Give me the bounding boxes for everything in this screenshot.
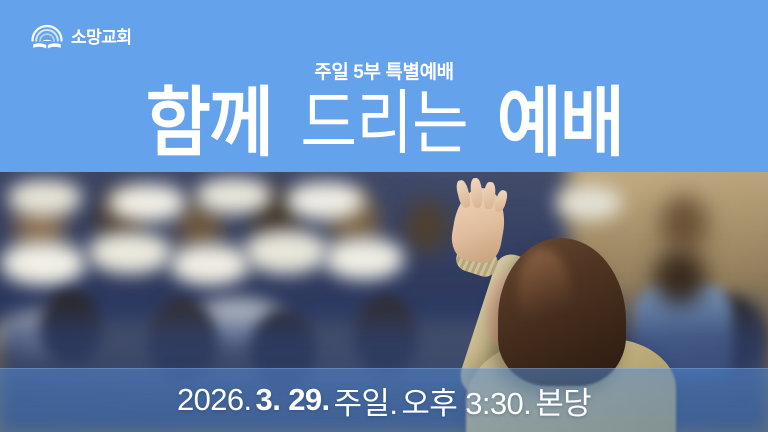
footer-time: 오후 3:30. (401, 378, 531, 423)
title-part-1: 함께 (145, 86, 271, 162)
worship-service-poster: 소망교회 주일 5부 특별예배 함께 드리는 예배 2026. 3. 29. 주… (0, 0, 768, 432)
footer-weekday: 주일. (334, 378, 398, 423)
poster-header: 소망교회 주일 5부 특별예배 함께 드리는 예배 (0, 0, 768, 172)
church-arc-dove-logo-icon (30, 22, 64, 52)
title-part-2: 드리는 (293, 88, 474, 158)
service-datetime-bar: 2026. 3. 29. 주일. 오후 3:30. 본당 (0, 368, 768, 432)
poster-subtitle: 주일 5부 특별예배 (0, 57, 768, 84)
footer-date: 3. 29. (256, 382, 330, 418)
brand-name: 소망교회 (71, 29, 132, 46)
worshipper-finger (493, 189, 509, 213)
footer-year: 2026. (177, 382, 252, 418)
poster-title: 함께 드리는 예배 (0, 86, 768, 162)
footer-venue: 본당 (535, 378, 591, 423)
title-part-3: 예배 (496, 86, 622, 162)
brand-logo[interactable]: 소망교회 (30, 22, 132, 52)
